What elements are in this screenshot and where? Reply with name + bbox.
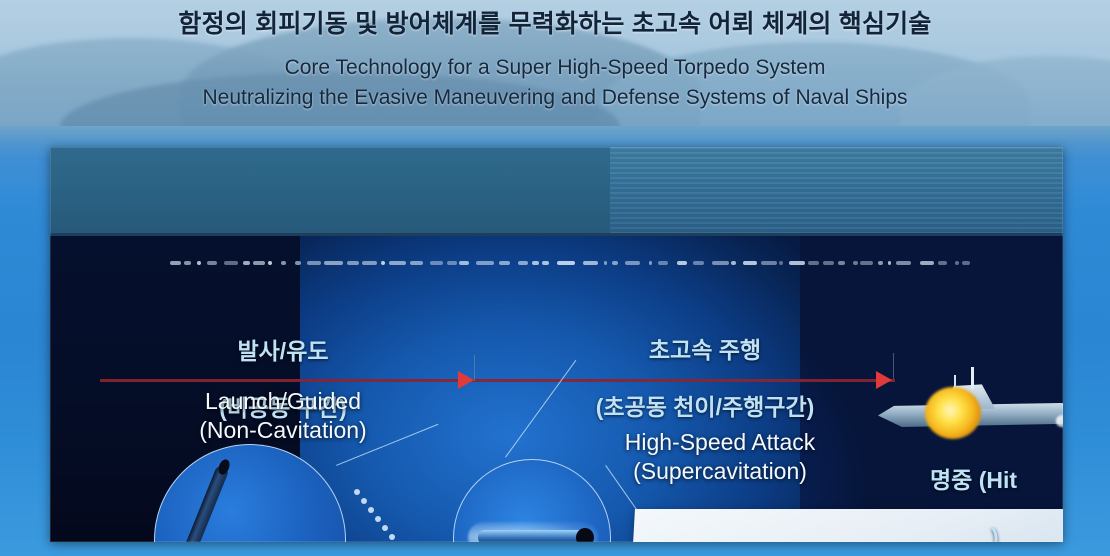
cavitation-bubble — [532, 261, 539, 265]
cavitation-bubble — [459, 261, 469, 265]
torpedo-nose-icon — [216, 458, 231, 477]
label-highspeed-korean-main: 초고속 주행 — [540, 336, 870, 365]
cavitation-bubble — [712, 261, 729, 265]
cavitation-bubble — [224, 261, 238, 265]
cavitation-bubble — [362, 261, 377, 265]
label-launch-korean-main: 발사/유도 — [158, 337, 408, 366]
cavitation-bubble — [612, 261, 618, 265]
title-korean: 함정의 회피기동 및 방어체계를 무력화하는 초고속 어뢰 체계의 핵심기술 — [0, 4, 1110, 40]
cavitation-bubble — [197, 261, 201, 265]
label-hit-korean-main: 명중 (Hit — [930, 466, 1060, 495]
cavitation-bubble — [207, 261, 217, 265]
cavitation-bubble — [658, 261, 668, 265]
cavitation-bubble — [184, 261, 191, 265]
cavitation-trail — [170, 259, 980, 267]
cavitation-bubble — [789, 261, 805, 265]
cavitation-bubble — [518, 261, 528, 265]
cavitation-bubble — [430, 261, 443, 265]
cavitation-bubble — [853, 261, 858, 265]
explosion-burst-icon — [925, 387, 981, 439]
label-hit-korean: 명중 (Hit ) — [930, 437, 1060, 542]
cavitation-bubble — [920, 261, 934, 265]
cavitation-bubble — [499, 261, 510, 265]
uuv-torpedo-trace — [350, 487, 420, 542]
cavitation-bubble — [779, 261, 783, 265]
cavitation-bubble — [962, 261, 970, 265]
label-launch-english: Launch/Guided (Non-Cavitation) — [138, 387, 428, 444]
cavitation-bubble — [878, 261, 883, 265]
cavitation-bubble — [896, 261, 911, 265]
cavitation-bubble — [625, 261, 640, 265]
cavitation-bubble — [447, 261, 457, 265]
ship-bow-spray — [1056, 415, 1063, 427]
cavitation-bubble — [823, 261, 834, 265]
label-hit-korean-sub: ) — [930, 523, 1060, 542]
cavitation-bubble — [693, 261, 704, 265]
cavitation-bubble — [307, 261, 321, 265]
cavitation-bubble — [170, 261, 181, 265]
title-english: Core Technology for a Super High-Speed T… — [0, 53, 1110, 113]
trajectory-arrow-1-icon — [458, 371, 474, 389]
torpedo-noncavitating — [173, 465, 230, 542]
ship-mast-icon — [971, 367, 974, 389]
title-english-line-2: Neutralizing the Evasive Maneuvering and… — [0, 83, 1110, 113]
cavitation-bubble — [268, 261, 272, 265]
cavitation-bubble — [557, 261, 575, 265]
cavitation-bubble — [808, 261, 819, 265]
diagram-panel: 발사/유도 (비공동 구간) Launch/Guided (Non-Cavita… — [50, 147, 1063, 542]
cavitation-bubble — [542, 261, 549, 265]
cavitation-bubble — [838, 261, 845, 265]
cavitation-bubble — [731, 261, 736, 265]
cavitation-bubble — [649, 261, 652, 265]
torpedo-cavitator-icon — [576, 528, 594, 542]
cavitation-bubble — [860, 261, 873, 265]
label-highspeed-korean-sub: (초공동 천이/주행구간) — [540, 393, 870, 422]
cavitation-bubble — [281, 261, 286, 265]
cavitation-bubble — [476, 261, 494, 265]
cavitation-bubble — [677, 261, 687, 265]
tick-mark-1 — [474, 355, 475, 381]
cavitation-bubble — [583, 261, 598, 265]
label-highspeed-english: High-Speed Attack (Supercavitation) — [580, 428, 860, 485]
cavitation-bubble — [761, 261, 777, 265]
cavitation-bubble — [955, 261, 959, 265]
cavitation-bubble — [253, 261, 265, 265]
title-english-line-1: Core Technology for a Super High-Speed T… — [0, 53, 1110, 83]
cavitation-bubble — [604, 261, 607, 265]
slide: 함정의 회피기동 및 방어체계를 무력화하는 초고속 어뢰 체계의 핵심기술 C… — [0, 0, 1110, 556]
cavitation-bubble — [888, 261, 891, 265]
torpedo-supercavitating — [478, 530, 588, 542]
cavitation-bubble — [243, 261, 250, 265]
cavitation-bubble — [295, 261, 301, 265]
cavitation-bubble — [381, 261, 385, 265]
cavitation-bubble — [743, 261, 757, 265]
cavitation-bubble — [347, 261, 359, 265]
cavitation-bubble — [938, 261, 947, 265]
cavitation-bubble — [324, 261, 343, 265]
cavitation-bubble — [410, 261, 423, 265]
cavitation-bubble — [389, 261, 406, 265]
